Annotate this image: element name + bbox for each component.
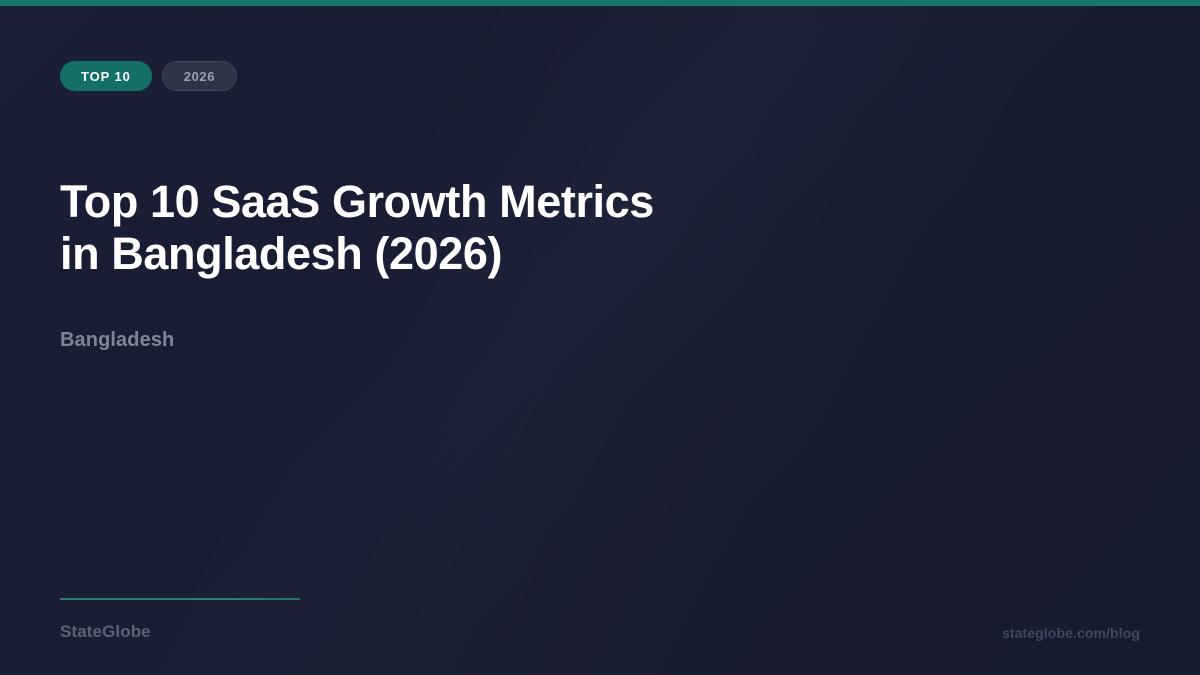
social-card: TOP 10 2026 Top 10 SaaS Growth Metrics i… [0,0,1200,675]
footer-divider [60,598,300,600]
top-accent-bar [0,0,1200,6]
page-title-line-2: in Bangladesh (2026) [60,228,760,280]
badge-group: TOP 10 2026 [60,61,237,91]
page-title-line-1: Top 10 SaaS Growth Metrics [60,176,760,228]
badge-year[interactable]: 2026 [162,61,237,91]
site-url: stateglobe.com/blog [1002,625,1140,641]
subtitle-country: Bangladesh [60,329,174,352]
brand-name: StateGlobe [60,622,151,642]
badge-top-10[interactable]: TOP 10 [60,61,152,91]
page-title: Top 10 SaaS Growth Metrics in Bangladesh… [60,176,760,280]
